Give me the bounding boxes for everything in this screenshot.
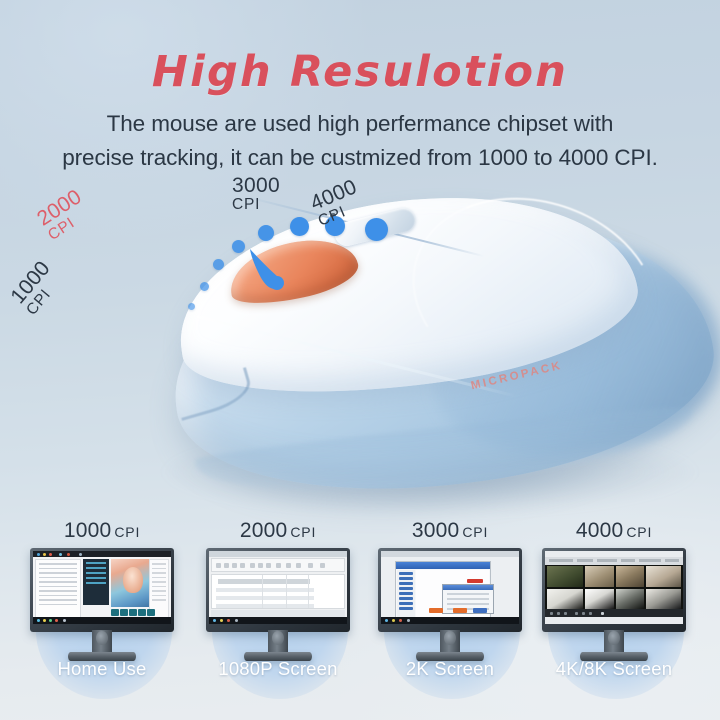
gallery-thumb-4	[646, 566, 681, 587]
comparison-cpi-value-4000: 4000	[576, 519, 624, 542]
hero-product-stage: MICROPACK 1000 CPI 2000 CPI 3000 CPI 40	[0, 165, 720, 510]
monitor-neck-1000	[92, 630, 112, 654]
explorer-window	[395, 561, 491, 623]
monitor-neck-4000	[604, 630, 624, 654]
subtitle-line-1: The mouse are used high perfermance chip…	[0, 107, 720, 141]
cpi-pointer-icon	[244, 246, 296, 292]
explorer-red-tab	[467, 579, 483, 583]
comparison-caption-3000: 2K Screen	[360, 658, 540, 680]
monitor-screen-3000	[381, 551, 519, 624]
comparison-cpi-value-1000: 1000	[64, 519, 112, 542]
gallery-footer-bar	[545, 609, 683, 617]
explorer-orange-marker-1	[429, 608, 443, 613]
gallery-thumb-1	[547, 566, 583, 587]
monitor-4000cpi	[542, 548, 686, 644]
gallery-thumb-3	[616, 566, 645, 587]
comparison-caption-1000: Home Use	[12, 658, 192, 680]
comparison-cpi-unit-2000: CPI	[290, 524, 316, 540]
cpi-dot-6	[290, 217, 309, 236]
cpi-dot-8	[365, 218, 388, 241]
monitor-3000cpi	[378, 548, 522, 644]
editor-dark-panel	[83, 559, 109, 605]
explorer-content-area	[416, 570, 489, 621]
gallery-thumb-6	[585, 589, 614, 610]
explorer-blue-marker	[473, 608, 487, 613]
comparison-item-2000cpi[interactable]: 2000CPI	[188, 515, 368, 720]
comparison-cpi-label-1000: 1000CPI	[12, 519, 192, 543]
monitor-bezel-1000	[30, 548, 174, 632]
cpi-dot-5	[258, 225, 274, 241]
screen-content-file-explorer	[381, 557, 519, 617]
screen-content-media-gallery	[545, 557, 683, 617]
comparison-item-4000cpi[interactable]: 4000CPI	[524, 515, 704, 720]
cpi-comparison-strip: 1000CPI	[0, 515, 720, 720]
explorer-sidebar	[397, 570, 415, 621]
spreadsheet-status-bar	[211, 610, 345, 617]
monitor-screen-2000	[209, 551, 347, 624]
screen-content-spreadsheet	[209, 557, 347, 617]
screen-taskbar-2000	[209, 617, 347, 624]
monitor-bezel-4000	[542, 548, 686, 632]
cpi-arc-label-1000: 1000 CPI	[8, 258, 66, 318]
cpi-dot-arc: 1000 CPI 2000 CPI 3000 CPI 4000 CPI	[0, 165, 720, 510]
screen-content-photo-editor	[33, 557, 171, 617]
monitor-neck-3000	[440, 630, 460, 654]
gallery-thumb-7	[616, 589, 645, 610]
gallery-thumb-2	[585, 566, 614, 587]
monitor-2000cpi	[206, 548, 350, 644]
page-title: High Resulotion	[0, 47, 720, 97]
explorer-orange-marker-2	[453, 608, 467, 613]
comparison-cpi-label-2000: 2000CPI	[188, 519, 368, 543]
cpi-arc-label-3000-unit: CPI	[232, 197, 280, 212]
comparison-cpi-label-4000: 4000CPI	[524, 519, 704, 543]
comparison-cpi-unit-1000: CPI	[114, 524, 140, 540]
comparison-cpi-unit-4000: CPI	[626, 524, 652, 540]
spreadsheet-header-row	[218, 579, 310, 584]
monitor-1000cpi	[30, 548, 174, 644]
gallery-toolbar	[545, 557, 683, 565]
cpi-dot-2	[200, 282, 209, 291]
gallery-thumb-5	[547, 589, 583, 610]
gallery-thumbnail-grid	[547, 566, 681, 609]
screen-taskbar-3000	[381, 617, 519, 624]
comparison-cpi-value-2000: 2000	[240, 519, 288, 542]
screen-taskbar-1000	[33, 617, 171, 624]
comparison-cpi-value-3000: 3000	[412, 519, 460, 542]
monitor-neck-2000	[268, 630, 288, 654]
comparison-cpi-unit-3000: CPI	[462, 524, 488, 540]
monitor-screen-4000	[545, 551, 683, 624]
monitor-screen-1000	[33, 551, 171, 624]
monitor-bezel-3000	[378, 548, 522, 632]
spreadsheet-grid	[211, 574, 345, 609]
cpi-arc-label-3000-value: 3000	[232, 176, 280, 197]
explorer-titlebar	[396, 562, 490, 569]
comparison-item-3000cpi[interactable]: 3000CPI	[360, 515, 540, 720]
comparison-caption-4000: 4K/8K Screen	[524, 658, 704, 680]
cpi-dot-1	[188, 303, 195, 310]
gallery-thumb-8	[646, 589, 681, 610]
cpi-arc-label-2000: 2000 CPI	[34, 187, 94, 243]
comparison-cpi-label-3000: 3000CPI	[360, 519, 540, 543]
comparison-item-1000cpi[interactable]: 1000CPI	[12, 515, 192, 720]
spreadsheet-ribbon	[211, 558, 345, 572]
cpi-arc-label-3000: 3000 CPI	[232, 176, 280, 212]
monitor-bezel-2000	[206, 548, 350, 632]
cpi-dot-3	[213, 259, 224, 270]
editor-document-panel	[35, 559, 81, 621]
cpi-arc-label-4000: 4000 CPI	[308, 177, 366, 229]
comparison-caption-2000: 1080P Screen	[188, 658, 368, 680]
